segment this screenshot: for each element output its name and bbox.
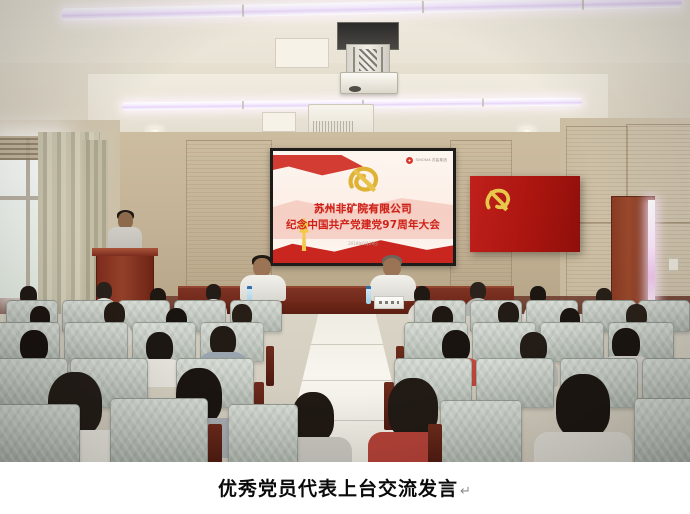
seat-r4-3[interactable] [228, 404, 298, 462]
ceiling-projector [340, 72, 398, 94]
water-bottle-right [366, 286, 371, 304]
seat-frame-r2-b [266, 346, 274, 386]
slide-title-line1: 苏州非矿院有限公司 [273, 201, 453, 216]
seat-frame-r4-b [428, 424, 442, 462]
photo-caption: 优秀党员代表上台交流发言↵ [0, 474, 690, 501]
projection-screen: SINOMA 苏盐集团 苏州非矿院有限公司 纪念中国共产党建党97周年大会 20… [270, 148, 456, 266]
seat-frame-r4-a [208, 424, 222, 462]
seat-r4-2[interactable] [110, 398, 208, 462]
seated-official-right [370, 258, 416, 298]
name-card-text [379, 301, 399, 304]
seat-r2-2[interactable] [64, 322, 128, 362]
ceiling-vent-lower [262, 112, 296, 132]
slide-date-line: 2018年6月29日 [273, 241, 453, 247]
slide-content: SINOMA 苏盐集团 苏州非矿院有限公司 纪念中国共产党建党97周年大会 20… [273, 151, 453, 263]
cpc-party-flag [470, 176, 580, 252]
light-switch[interactable] [668, 258, 679, 271]
name-card [374, 296, 404, 309]
slide-logo-mark-icon [406, 157, 413, 164]
seat-r4-4[interactable] [440, 400, 522, 462]
ceiling-vent-upper [275, 38, 329, 68]
caption-area: 优秀党员代表上台交流发言↵ [0, 462, 690, 514]
seat-r2-7[interactable] [540, 322, 604, 362]
hammer-sickle-icon [482, 186, 512, 214]
cpc-hammer-sickle-emblem-icon [344, 164, 382, 194]
seat-r4-5[interactable] [634, 398, 690, 462]
projector-lens-icon [349, 86, 361, 92]
slide-title-line2: 纪念中国共产党建党97周年大会 [273, 217, 453, 232]
window-mullion-vertical [26, 138, 30, 298]
podium-top-surface [92, 248, 158, 256]
conference-hall-photo: SINOMA 苏盐集团 苏州非矿院有限公司 纪念中国共产党建党97周年大会 20… [0, 0, 690, 462]
paragraph-mark-icon: ↵ [460, 484, 472, 499]
slide-corner-logo: SINOMA 苏盐集团 [406, 157, 447, 164]
document-page: SINOMA 苏盐集团 苏州非矿院有限公司 纪念中国共产党建党97周年大会 20… [0, 0, 690, 514]
seat-r4-1[interactable] [0, 404, 80, 462]
slide-logo-text: SINOMA 苏盐集团 [415, 158, 447, 163]
projector-lift-arm [359, 49, 377, 71]
strip-light-front [62, 0, 682, 20]
caption-text: 优秀党员代表上台交流发言 [218, 478, 458, 500]
